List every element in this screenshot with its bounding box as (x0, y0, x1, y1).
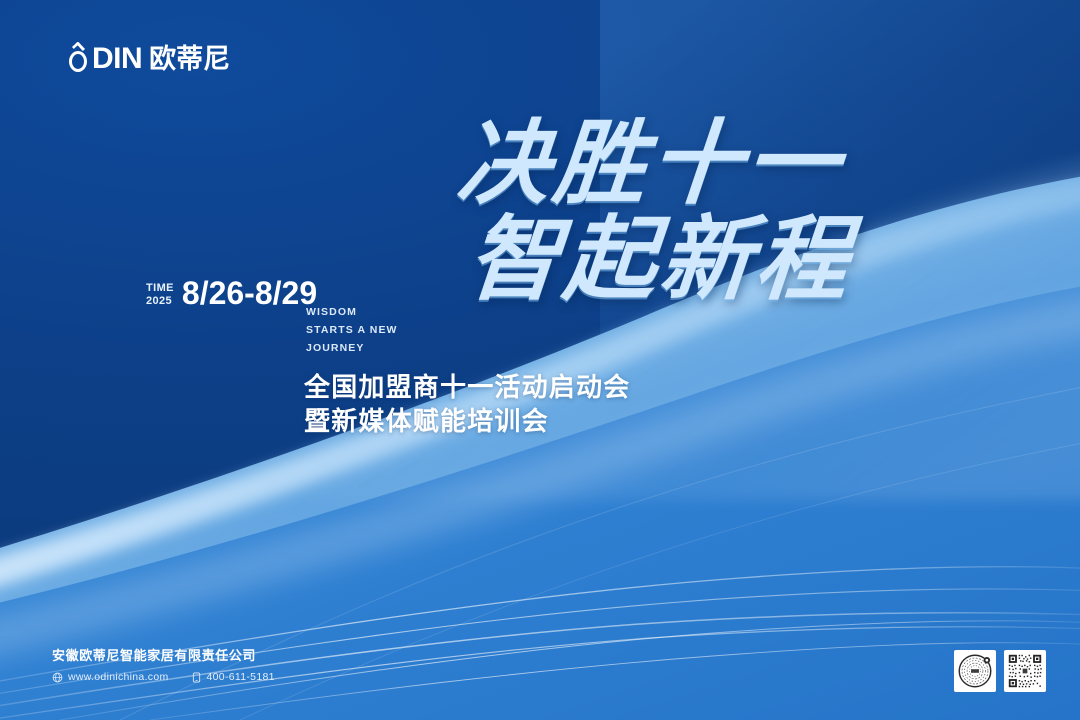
company-name: 安徽欧蒂尼智能家居有限责任公司 (52, 647, 275, 665)
event-subtitle: 全国加盟商十一活动启动会 暨新媒体赋能培训会 (304, 370, 630, 438)
logo-latin-text: DIN (92, 44, 142, 74)
english-tagline: WISDOM STARTS A NEW JOURNEY (306, 303, 398, 357)
phone-icon (191, 672, 202, 683)
logo-chinese-text: 欧蒂尼 (149, 44, 230, 74)
tagline-line-1: WISDOM (306, 303, 398, 321)
event-date-block: TIME 2025 8/26-8/29 (146, 278, 317, 308)
odin-circle-mark-icon (68, 44, 90, 74)
footer: 安徽欧蒂尼智能家居有限责任公司 www.odinichina.com (52, 647, 275, 684)
headline-line-1: 决胜十一 (436, 112, 915, 214)
headline-line-2: 智起新程 (436, 208, 915, 310)
contact-row: www.odinichina.com 400-611-5181 (52, 670, 275, 684)
subtitle-line-2: 暨新媒体赋能培训会 (304, 404, 630, 438)
date-label: TIME 2025 (146, 278, 174, 307)
headline: 决胜十一 智起新程 (440, 112, 910, 310)
tagline-line-3: JOURNEY (306, 339, 398, 357)
phone-item[interactable]: 400-611-5181 (191, 670, 275, 684)
subtitle-line-1: 全国加盟商十一活动启动会 (304, 370, 630, 404)
qr-code-group (954, 650, 1046, 692)
tagline-line-2: STARTS A NEW (306, 321, 398, 339)
square-qr-code[interactable] (1004, 650, 1046, 692)
date-label-time: TIME (146, 283, 174, 294)
phone-text: 400-611-5181 (207, 670, 275, 684)
date-range: 8/26-8/29 (182, 278, 317, 308)
globe-icon (52, 672, 63, 683)
poster-canvas: DIN 欧蒂尼 决胜十一 智起新程 TIME 2025 8/26-8/29 WI… (0, 0, 1080, 720)
background-wave-graphic (0, 0, 1080, 720)
brand-logo[interactable]: DIN 欧蒂尼 (68, 44, 230, 74)
website-text: www.odinichina.com (68, 670, 169, 684)
date-label-year: 2025 (146, 296, 174, 307)
website-item[interactable]: www.odinichina.com (52, 670, 169, 684)
circular-qr-code[interactable] (954, 650, 996, 692)
